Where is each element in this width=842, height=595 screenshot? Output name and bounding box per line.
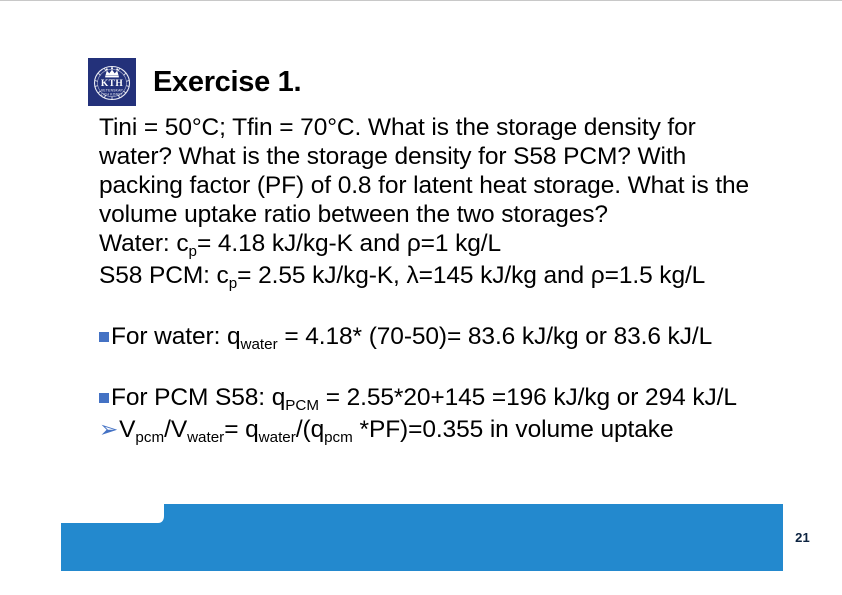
footer-banner	[61, 504, 783, 571]
slide-title-row: KTH VETENSKAP OCH KONST Exercise 1.	[88, 58, 301, 106]
bullet-pcm-prefix: For PCM S58: q	[111, 384, 285, 411]
bullet-pcm-suffix: = 2.55*20+145 =196 kJ/kg or 294 kJ/L	[319, 384, 737, 411]
svg-text:OCH KONST: OCH KONST	[101, 92, 123, 96]
body-spacer-1	[99, 293, 771, 322]
pcm-properties-prefix: S58 PCM: c	[99, 262, 229, 289]
square-bullet-icon	[99, 332, 109, 342]
ratio-v-pcm: V	[119, 416, 135, 443]
ratio-equals-q: = q	[224, 416, 258, 443]
pcm-properties-line: S58 PCM: cp= 2.55 kJ/kg-K, λ=145 kJ/kg a…	[99, 261, 771, 293]
square-bullet-icon	[99, 393, 109, 403]
q-water-subscript-2: water	[259, 429, 296, 446]
q-pcm-subscript-2: pcm	[324, 429, 353, 446]
bullet-water-prefix: For water: q	[111, 323, 241, 350]
kth-logo-icon: KTH VETENSKAP OCH KONST	[88, 58, 136, 106]
slide-body: Tini = 50°C; Tfin = 70°C. What is the st…	[99, 113, 771, 447]
ratio-tail: *PF)=0.355 in volume uptake	[353, 416, 674, 443]
ratio-mid: /(q	[296, 416, 324, 443]
q-water-subscript: water	[241, 336, 278, 353]
v-pcm-subscript: pcm	[135, 429, 164, 446]
page-number: 21	[795, 530, 810, 545]
slide-canvas: KTH VETENSKAP OCH KONST Exercise 1. Tini…	[0, 0, 842, 595]
pcm-properties-suffix: = 2.55 kJ/kg-K, λ=145 kJ/kg and ρ=1.5 kg…	[237, 262, 705, 289]
bullet-water-result: For water: qwater = 4.18* (70-50)= 83.6 …	[99, 322, 771, 354]
ratio-slash-v: /V	[164, 416, 187, 443]
body-spacer-2	[99, 354, 771, 383]
water-properties-prefix: Water: c	[99, 230, 189, 257]
water-properties-suffix: = 4.18 kJ/kg-K and ρ=1 kg/L	[197, 230, 501, 257]
water-cp-subscript: p	[189, 243, 197, 260]
pcm-cp-subscript: p	[229, 275, 237, 292]
bullet-pcm-result: For PCM S58: qPCM = 2.55*20+145 =196 kJ/…	[99, 383, 771, 415]
bullet-volume-ratio-result: ➢Vpcm/Vwater= qwater/(qpcm *PF)=0.355 in…	[99, 415, 771, 447]
q-pcm-subscript: PCM	[285, 397, 319, 414]
arrow-bullet-icon: ➢	[99, 415, 118, 444]
v-water-subscript: water	[187, 429, 224, 446]
question-paragraph: Tini = 50°C; Tfin = 70°C. What is the st…	[99, 113, 771, 229]
water-properties-line: Water: cp= 4.18 kJ/kg-K and ρ=1 kg/L	[99, 229, 771, 261]
page-title: Exercise 1.	[153, 68, 301, 97]
bullet-water-suffix: = 4.18* (70-50)= 83.6 kJ/kg or 83.6 kJ/L	[278, 323, 712, 350]
